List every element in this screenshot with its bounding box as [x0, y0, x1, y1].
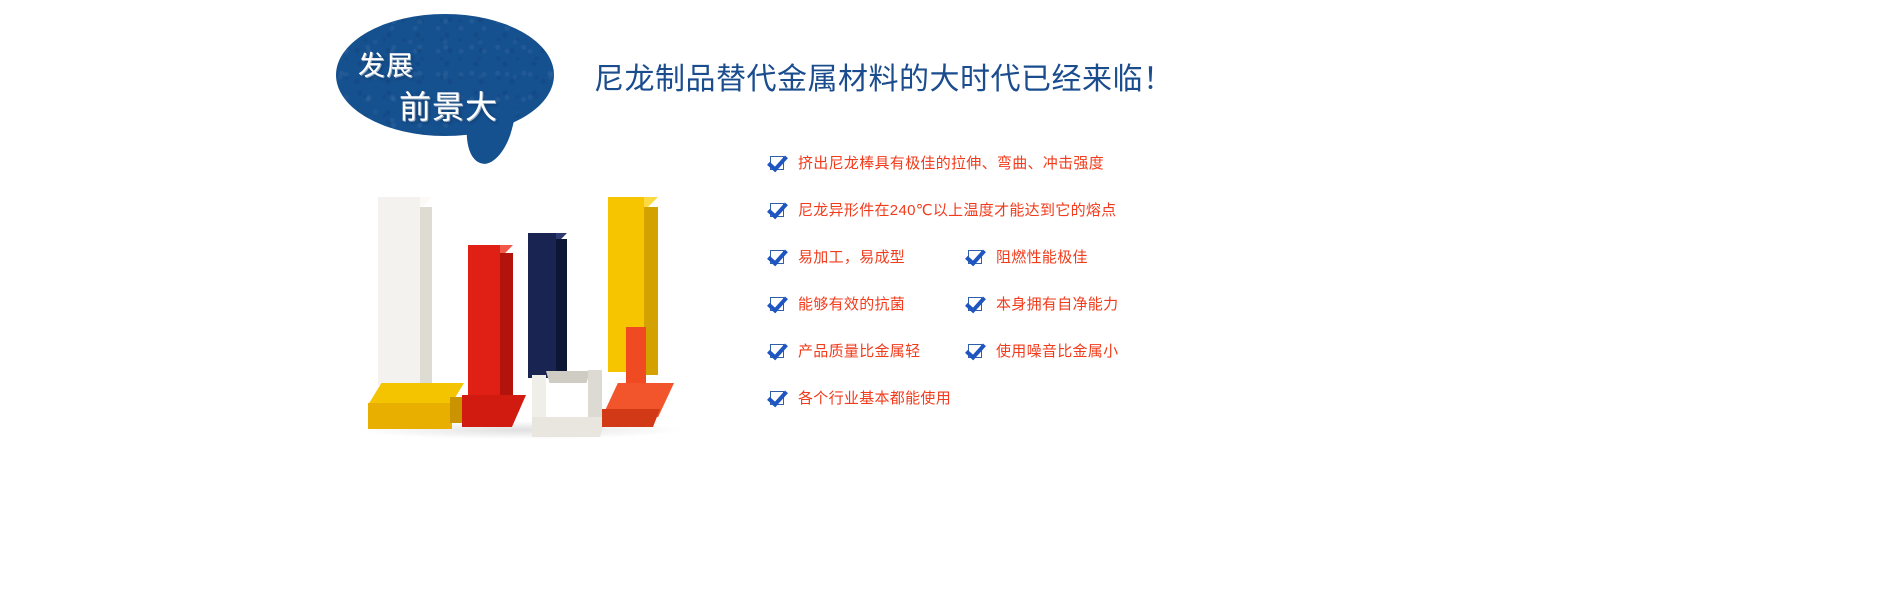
orange-angle-edge — [602, 409, 660, 427]
feature-label: 使用噪音比金属小 — [996, 340, 1118, 361]
red-bar-face — [468, 245, 500, 400]
speech-bubble: 发展 前景大 — [336, 14, 568, 166]
u-channel-inner — [546, 371, 590, 383]
white-bar-side — [420, 207, 432, 385]
feature-label: 本身拥有自净能力 — [996, 293, 1118, 314]
feature-label: 产品质量比金属轻 — [798, 340, 920, 361]
feature-list: 挤出尼龙棒具有极佳的拉伸、弯曲、冲击强度 尼龙异形件在240℃以上温度才能达到它… — [770, 152, 1470, 434]
feature-label: 尼龙异形件在240℃以上温度才能达到它的熔点 — [798, 199, 1116, 220]
checkbox-checked-icon — [968, 344, 982, 358]
feature-label: 阻燃性能极佳 — [996, 246, 1088, 267]
yellow-base-face — [368, 403, 452, 429]
feature-item: 使用噪音比金属小 — [968, 340, 1118, 361]
yellow-base-side — [450, 397, 464, 423]
feature-row: 能够有效的抗菌 本身拥有自净能力 — [770, 293, 1470, 340]
promo-banner: 发展 前景大 尼龙制品替代金属材料的大时代已经来临！ — [0, 0, 1902, 592]
white-bar-face — [378, 197, 420, 385]
speech-bubble-line-1: 发展 — [358, 44, 414, 83]
checkbox-checked-icon — [770, 391, 784, 405]
yellow-bar-side — [644, 207, 658, 375]
feature-item: 产品质量比金属轻 — [770, 340, 920, 361]
feature-item: 阻燃性能极佳 — [968, 246, 1088, 267]
feature-item: 挤出尼龙棒具有极佳的拉伸、弯曲、冲击强度 — [770, 152, 1104, 173]
feature-row: 挤出尼龙棒具有极佳的拉伸、弯曲、冲击强度 — [770, 152, 1470, 199]
feature-label: 挤出尼龙棒具有极佳的拉伸、弯曲、冲击强度 — [798, 152, 1104, 173]
feature-item: 能够有效的抗菌 — [770, 293, 905, 314]
navy-bar-side — [556, 239, 567, 379]
feature-item: 各个行业基本都能使用 — [770, 387, 951, 408]
feature-label: 各个行业基本都能使用 — [798, 387, 951, 408]
feature-item: 本身拥有自净能力 — [968, 293, 1118, 314]
red-bar-side — [500, 253, 513, 403]
page-title: 尼龙制品替代金属材料的大时代已经来临！ — [594, 54, 1174, 98]
checkbox-checked-icon — [770, 250, 784, 264]
checkbox-checked-icon — [968, 250, 982, 264]
feature-row: 各个行业基本都能使用 — [770, 387, 1470, 434]
feature-row: 尼龙异形件在240℃以上温度才能达到它的熔点 — [770, 199, 1470, 246]
product-photo — [350, 185, 710, 460]
checkbox-checked-icon — [770, 344, 784, 358]
feature-row: 产品质量比金属轻 使用噪音比金属小 — [770, 340, 1470, 387]
feature-item: 尼龙异形件在240℃以上温度才能达到它的熔点 — [770, 199, 1116, 220]
checkbox-checked-icon — [770, 297, 784, 311]
feature-item: 易加工，易成型 — [770, 246, 905, 267]
navy-bar-face — [528, 233, 556, 378]
checkbox-checked-icon — [968, 297, 982, 311]
feature-label: 能够有效的抗菌 — [798, 293, 905, 314]
u-channel-base — [532, 417, 606, 437]
checkbox-checked-icon — [770, 203, 784, 217]
speech-bubble-line-2: 前景大 — [399, 82, 498, 128]
feature-label: 易加工，易成型 — [798, 246, 905, 267]
checkbox-checked-icon — [770, 156, 784, 170]
feature-row: 易加工，易成型 阻燃性能极佳 — [770, 246, 1470, 293]
u-channel-right — [588, 370, 602, 422]
